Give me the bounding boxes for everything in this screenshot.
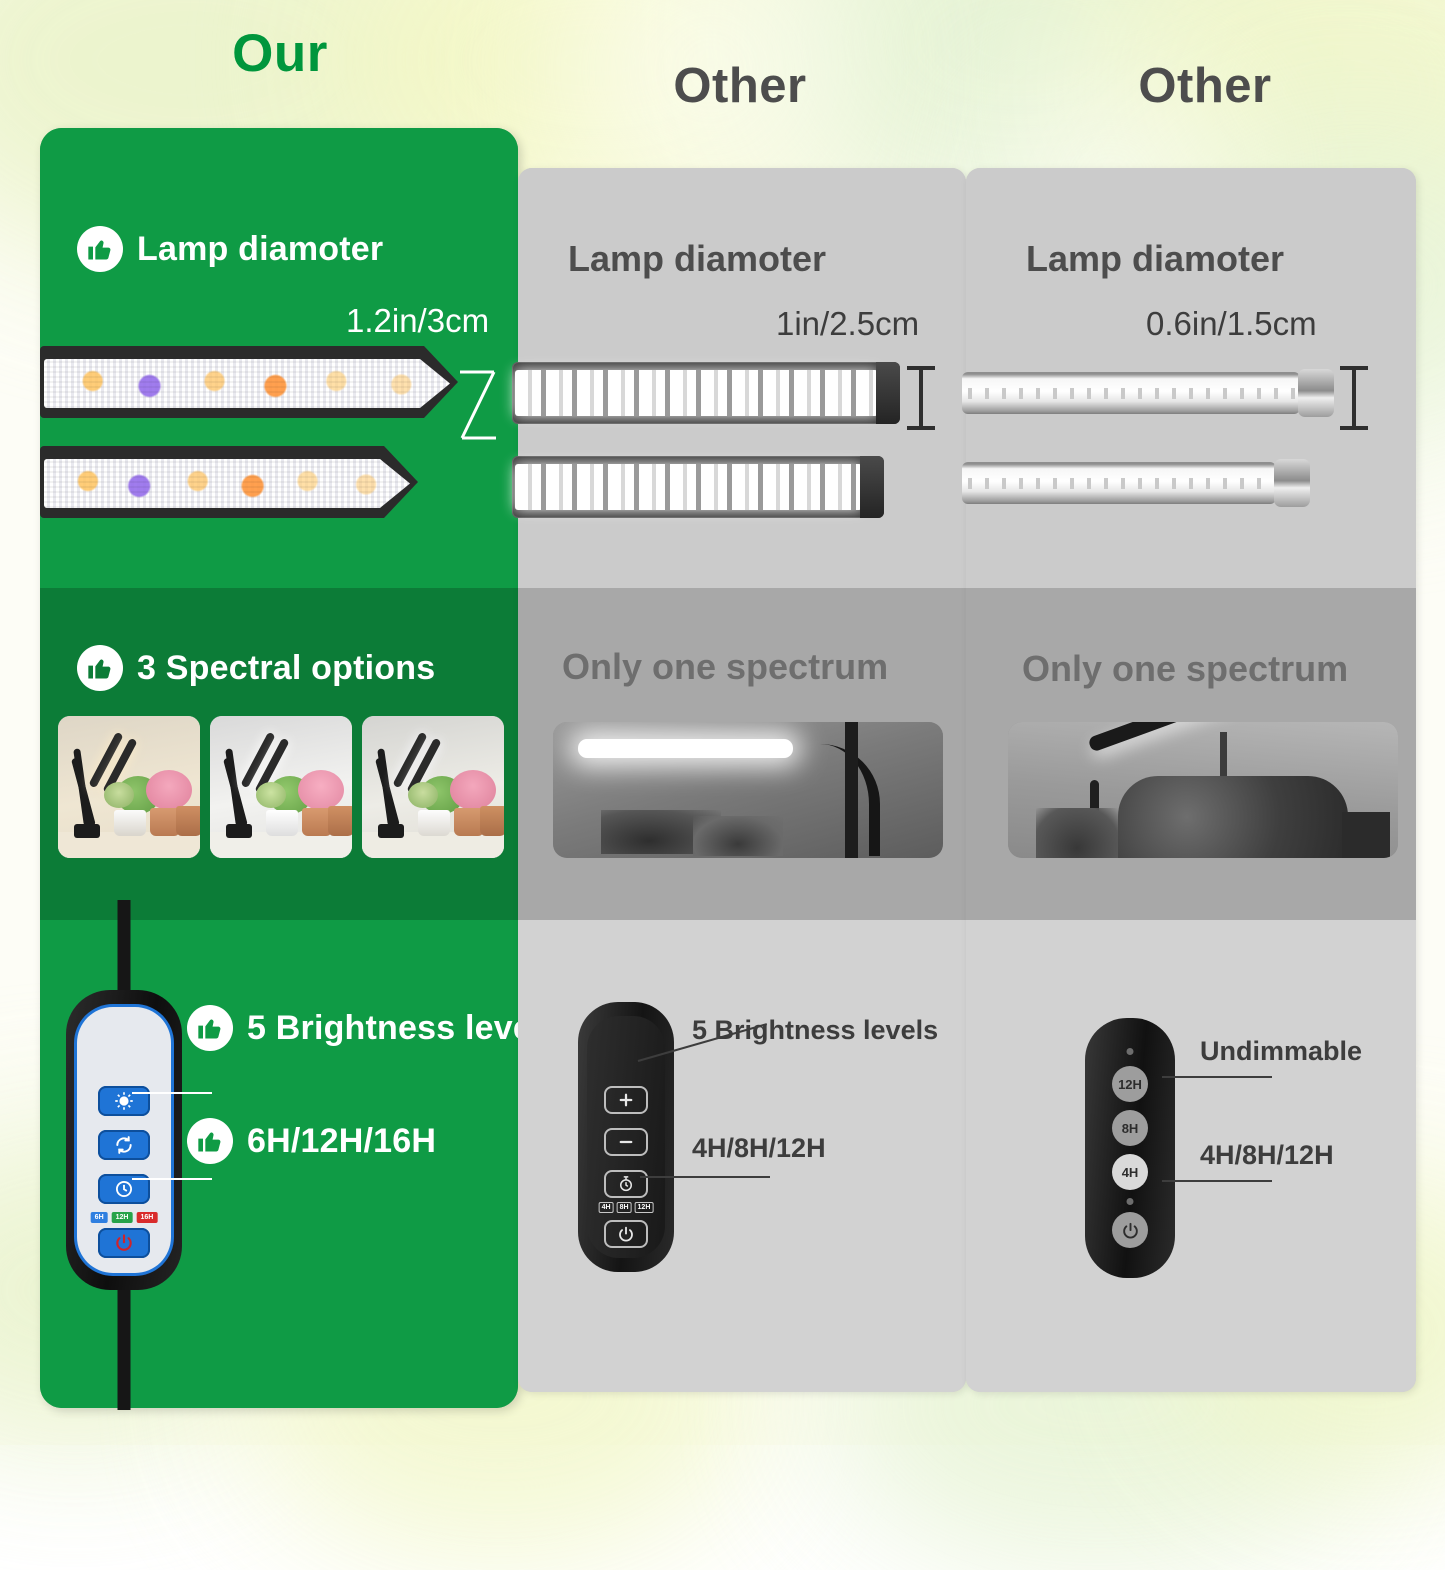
power-button[interactable]	[604, 1220, 648, 1248]
photo-light-bar	[578, 739, 793, 758]
thumbs-up-icon	[77, 645, 123, 691]
other-2-timer-label: 4H/8H/12H	[1200, 1140, 1334, 1171]
timer-tag-8h: 8H	[617, 1202, 632, 1213]
column-header-other-2: Other	[1050, 58, 1360, 114]
our-brightness-label: 5 Brightness levels	[247, 1009, 561, 1048]
led-tube-end-cap	[1298, 369, 1334, 417]
thumbs-up-icon	[77, 226, 123, 272]
scene-foliage	[104, 782, 134, 808]
spectrum-thumbnail[interactable]	[362, 716, 504, 858]
led-bar-diffuser	[44, 359, 450, 408]
other-2-timer-leader-line	[1162, 1180, 1272, 1182]
photo-pole	[845, 722, 858, 858]
other-2-led-tube-bottom	[962, 462, 1310, 504]
our-feature-title: 3 Spectral options	[137, 649, 435, 688]
timer-led-16h: 16H	[136, 1212, 157, 1223]
timer-4h-button[interactable]: 4H	[1112, 1154, 1148, 1190]
scene-pot	[328, 806, 352, 836]
led-tube-body	[962, 462, 1276, 504]
our-lamp-diameter-value: 1.2in/3cm	[346, 302, 489, 340]
spectrum-thumbnail[interactable]	[58, 716, 200, 858]
other-2-spectrum-title: Only one spectrum	[1022, 648, 1348, 690]
other-1-timer-leader-line	[640, 1176, 770, 1178]
scene-lamp-clip	[74, 824, 100, 838]
timer-indicator-leds: 6H 12H 16H	[91, 1212, 158, 1223]
other-1-lamp-diameter-value: 1in/2.5cm	[776, 305, 919, 343]
brightness-down-button[interactable]	[604, 1128, 648, 1156]
other-2-lamp-diameter-value: 0.6in/1.5cm	[1146, 305, 1317, 343]
our-brightness-leader-line	[132, 1092, 212, 1094]
led-tube-end-cap	[1274, 459, 1310, 507]
thumbs-up-icon	[187, 1118, 233, 1164]
scene-foliage	[408, 782, 438, 808]
status-indicator-dot	[1127, 1048, 1134, 1055]
our-led-bar-top	[40, 346, 458, 418]
scene-pot	[114, 810, 146, 836]
scene-pot	[266, 810, 298, 836]
photo-plant	[693, 816, 783, 856]
power-cord	[118, 1280, 131, 1410]
thumbs-up-icon	[187, 1005, 233, 1051]
our-feature-row-spectrum: 3 Spectral options	[77, 645, 435, 691]
scene-lamp-clip	[226, 824, 252, 838]
our-diameter-bracket-icon	[456, 368, 498, 442]
other-2-lamp-diameter-title: Lamp diamoter	[1026, 238, 1284, 280]
other-1-lamp-diameter-title: Lamp diamoter	[568, 238, 826, 280]
our-feature-row-timer: 6H/12H/16H	[187, 1118, 436, 1164]
other-1-led-bar-top	[512, 362, 900, 424]
status-indicator-dot	[1127, 1198, 1134, 1205]
power-button[interactable]	[98, 1228, 150, 1258]
spectrum-thumbnail[interactable]	[210, 716, 352, 858]
spectrum-cycle-button[interactable]	[98, 1130, 150, 1160]
timer-8h-button[interactable]: 8H	[1112, 1110, 1148, 1146]
photo-pot	[1342, 812, 1390, 858]
other-2-dimming-label: Undimmable	[1200, 1036, 1362, 1067]
lamp-plant-scene	[362, 716, 504, 858]
other-1-diameter-bracket-icon	[919, 366, 923, 430]
scene-foliage	[298, 770, 344, 810]
scene-foliage	[450, 770, 496, 810]
our-timer-leader-line	[132, 1178, 212, 1180]
lamp-plant-scene	[58, 716, 200, 858]
brightness-button[interactable]	[98, 1086, 150, 1116]
other-1-timer-tags: 4H 8H 12H	[599, 1202, 654, 1213]
brightness-up-button[interactable]	[604, 1086, 648, 1114]
other-1-timer-label: 4H/8H/12H	[692, 1133, 826, 1164]
other-1-spectrum-title: Only one spectrum	[562, 646, 888, 688]
power-cord	[118, 900, 131, 1000]
our-led-bar-bottom	[40, 446, 418, 518]
led-tube-body	[962, 372, 1300, 414]
other-2-led-tube-top	[962, 372, 1334, 414]
led-bar-diffuser	[515, 464, 862, 510]
other-2-controller[interactable]: 12H 8H 4H	[1085, 1018, 1175, 1278]
other-2-spectrum-photo	[1008, 722, 1398, 858]
other-1-controller[interactable]: 4H 8H 12H	[578, 1002, 674, 1272]
other-2-row-band-3	[966, 920, 1416, 1392]
column-header-other-1: Other	[585, 58, 895, 114]
led-bar-diffuser	[515, 370, 878, 416]
scene-pot	[176, 806, 200, 836]
timer-tag-12h: 12H	[635, 1202, 654, 1213]
our-feature-row-lamp-diameter: Lamp diamoter	[77, 226, 383, 272]
photo-foliage	[1118, 776, 1348, 858]
timer-button[interactable]	[604, 1170, 648, 1198]
scene-foliage	[256, 782, 286, 808]
our-feature-title: Lamp diamoter	[137, 230, 383, 269]
other-2-diameter-bracket-icon	[1352, 366, 1356, 430]
power-button[interactable]	[1112, 1212, 1148, 1248]
scene-pot	[480, 806, 504, 836]
timer-led-6h: 6H	[91, 1212, 108, 1223]
timer-tag-4h: 4H	[599, 1202, 614, 1213]
other-1-led-bar-bottom	[512, 456, 884, 518]
timer-12h-button[interactable]: 12H	[1112, 1066, 1148, 1102]
scene-foliage	[146, 770, 192, 810]
other-1-brightness-label: 5 Brightness levels	[692, 1015, 938, 1046]
column-header-our: Our	[140, 23, 420, 84]
scene-lamp-clip	[378, 824, 404, 838]
lamp-plant-scene	[210, 716, 352, 858]
led-bar-end-cap	[876, 362, 900, 424]
photo-foliage	[1036, 808, 1118, 858]
our-timer-label: 6H/12H/16H	[247, 1122, 436, 1161]
led-bar-end-cap	[860, 456, 884, 518]
led-bar-diffuser	[44, 459, 410, 508]
scene-pot	[418, 810, 450, 836]
our-feature-row-brightness: 5 Brightness levels	[187, 1005, 561, 1051]
our-controller[interactable]: 6H 12H 16H	[66, 990, 182, 1290]
other-2-dimming-leader-line	[1162, 1076, 1272, 1078]
timer-led-12h: 12H	[112, 1212, 133, 1223]
other-1-spectrum-photo	[553, 722, 943, 858]
